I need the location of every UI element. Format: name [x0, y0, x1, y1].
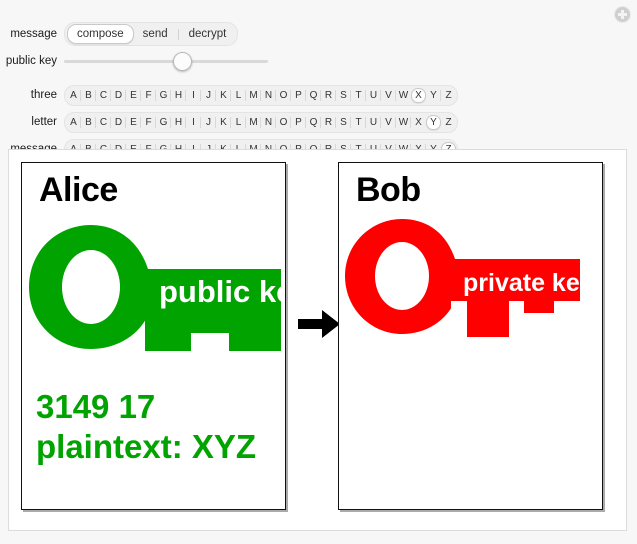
alice-panel: Alice public key 3149 17 plaintext: XYZ — [21, 162, 286, 510]
three-letter-R[interactable]: R — [321, 88, 336, 103]
three-letter-C[interactable]: C — [96, 88, 111, 103]
control-row-public-key: public key — [0, 49, 637, 73]
letter-letter-D[interactable]: D — [111, 115, 126, 130]
three-letter-H[interactable]: H — [171, 88, 186, 103]
plus-circle-icon[interactable] — [615, 7, 630, 22]
public-key-label: public key — [159, 274, 281, 309]
output-pane: Alice public key 3149 17 plaintext: XYZ — [8, 149, 627, 531]
three-letter-K[interactable]: K — [216, 88, 231, 103]
segment-compose[interactable]: compose — [67, 24, 134, 44]
letter-letter-K[interactable]: K — [216, 115, 231, 130]
label-public-key: public key — [0, 55, 64, 67]
letter-letter-S[interactable]: S — [336, 115, 351, 130]
three-letter-Q[interactable]: Q — [306, 88, 321, 103]
segment-decrypt[interactable]: decrypt — [180, 25, 236, 43]
three-alphabet-bar[interactable]: ABCDEFGHIJKLMNOPQRSTUVWXYZ — [64, 85, 458, 106]
letter-letter-U[interactable]: U — [366, 115, 381, 130]
alice-plaintext: plaintext: XYZ — [36, 428, 256, 466]
three-letter-S[interactable]: S — [336, 88, 351, 103]
private-key-icon: private key — [345, 219, 580, 337]
letter-letter-Q[interactable]: Q — [306, 115, 321, 130]
public-key-icon: public key — [29, 225, 281, 355]
letter-letter-X[interactable]: X — [411, 115, 426, 130]
letter-letter-Z[interactable]: Z — [441, 115, 456, 130]
three-letter-D[interactable]: D — [111, 88, 126, 103]
letter-letter-A[interactable]: A — [66, 115, 81, 130]
control-row-message: message compose send decrypt — [0, 22, 637, 46]
segment-divider — [178, 29, 179, 40]
letter-letter-G[interactable]: G — [156, 115, 171, 130]
segment-send[interactable]: send — [134, 25, 177, 43]
three-letter-X[interactable]: X — [411, 88, 426, 103]
plus-glyph — [618, 10, 627, 19]
controls-panel: message compose send decrypt public key … — [0, 0, 637, 161]
message-setter-bar[interactable]: compose send decrypt — [64, 22, 238, 46]
three-letter-F[interactable]: F — [141, 88, 156, 103]
letter-letter-E[interactable]: E — [126, 115, 141, 130]
letter-letter-B[interactable]: B — [81, 115, 96, 130]
alice-numbers: 3149 17 — [36, 388, 155, 426]
slider-thumb[interactable] — [173, 52, 192, 71]
letter-letter-P[interactable]: P — [291, 115, 306, 130]
right-arrow-icon — [298, 308, 340, 340]
label-message: message — [0, 28, 64, 40]
three-letter-I[interactable]: I — [186, 88, 201, 103]
letter-letter-W[interactable]: W — [396, 115, 411, 130]
label-three: three — [0, 89, 64, 101]
letter-letter-R[interactable]: R — [321, 115, 336, 130]
three-letter-O[interactable]: O — [276, 88, 291, 103]
three-letter-B[interactable]: B — [81, 88, 96, 103]
letter-letter-V[interactable]: V — [381, 115, 396, 130]
letter-letter-I[interactable]: I — [186, 115, 201, 130]
three-letter-P[interactable]: P — [291, 88, 306, 103]
letter-letter-O[interactable]: O — [276, 115, 291, 130]
label-letter: letter — [0, 116, 64, 128]
letter-letter-F[interactable]: F — [141, 115, 156, 130]
three-letter-J[interactable]: J — [201, 88, 216, 103]
three-letter-Y[interactable]: Y — [426, 88, 441, 103]
alice-name: Alice — [39, 171, 118, 210]
bob-name: Bob — [356, 171, 421, 210]
three-letter-T[interactable]: T — [351, 88, 366, 103]
control-row-letter: letterABCDEFGHIJKLMNOPQRSTUVWXYZ — [0, 110, 637, 134]
letter-letter-M[interactable]: M — [246, 115, 261, 130]
letter-letter-J[interactable]: J — [201, 115, 216, 130]
slider-track[interactable] — [64, 60, 268, 63]
letter-letter-H[interactable]: H — [171, 115, 186, 130]
bob-panel: Bob private key — [338, 162, 603, 510]
letter-letter-T[interactable]: T — [351, 115, 366, 130]
three-letter-U[interactable]: U — [366, 88, 381, 103]
three-letter-E[interactable]: E — [126, 88, 141, 103]
three-letter-A[interactable]: A — [66, 88, 81, 103]
three-letter-Z[interactable]: Z — [441, 88, 456, 103]
public-key-slider[interactable] — [64, 51, 268, 71]
three-letter-L[interactable]: L — [231, 88, 246, 103]
three-letter-V[interactable]: V — [381, 88, 396, 103]
three-letter-G[interactable]: G — [156, 88, 171, 103]
three-letter-N[interactable]: N — [261, 88, 276, 103]
letter-letter-Y[interactable]: Y — [426, 115, 441, 130]
private-key-label: private key — [463, 269, 580, 297]
three-letter-W[interactable]: W — [396, 88, 411, 103]
letter-letter-L[interactable]: L — [231, 115, 246, 130]
letter-alphabet-bar[interactable]: ABCDEFGHIJKLMNOPQRSTUVWXYZ — [64, 112, 458, 133]
letter-letter-N[interactable]: N — [261, 115, 276, 130]
control-row-three: threeABCDEFGHIJKLMNOPQRSTUVWXYZ — [0, 83, 637, 107]
stage: Alice public key 3149 17 plaintext: XYZ — [9, 150, 626, 530]
letter-letter-C[interactable]: C — [96, 115, 111, 130]
three-letter-M[interactable]: M — [246, 88, 261, 103]
